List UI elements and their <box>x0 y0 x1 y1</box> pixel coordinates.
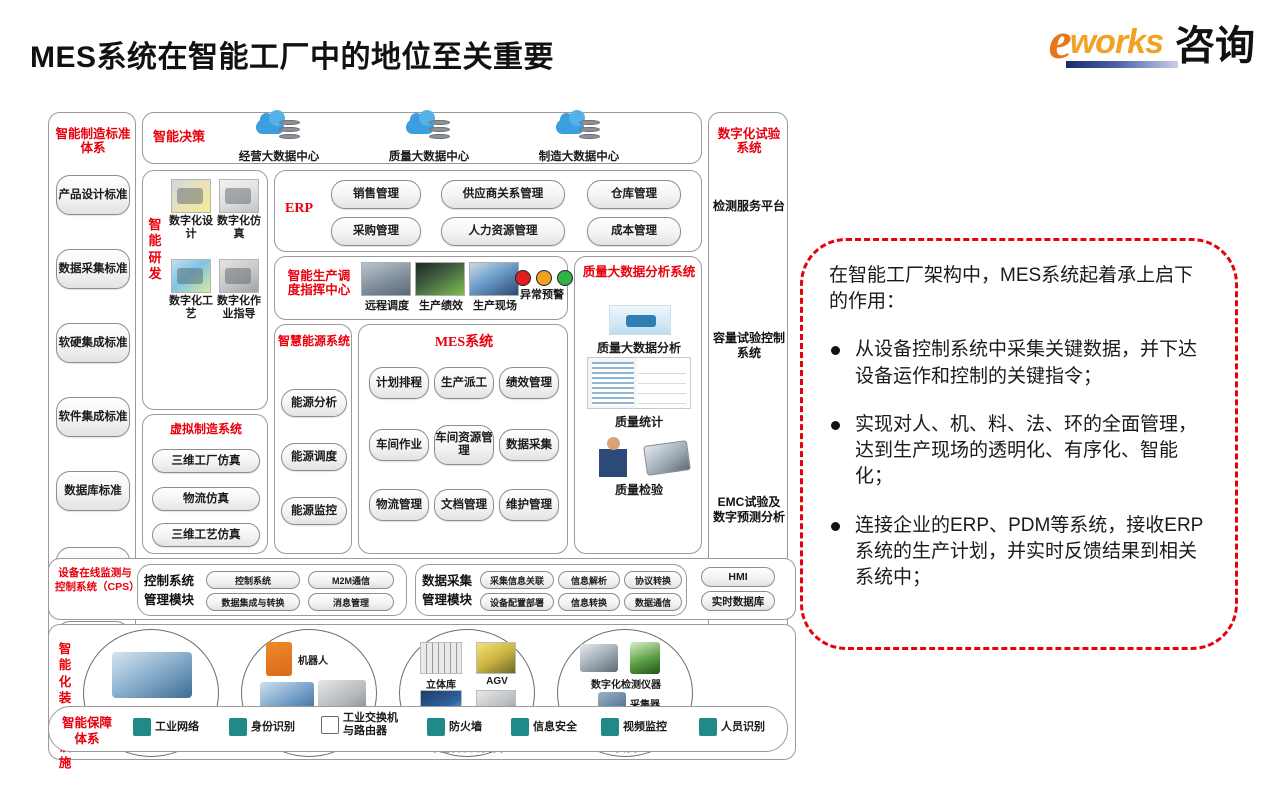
security-item-firewall[interactable]: 防火墙 <box>427 718 482 736</box>
security-item-personnel-identification-label: 人员识别 <box>721 721 765 734</box>
logo-word-text: works <box>1070 23 1163 61</box>
standards-column-title: 智能制造标准体系 <box>55 127 131 156</box>
logo-suffix: 咨询 <box>1175 13 1255 71</box>
security-item-firewall-label: 防火墙 <box>449 721 482 734</box>
standard-item-software-integration[interactable]: 软件集成标准 <box>56 397 130 437</box>
cps-chip-m2m[interactable]: M2M通信 <box>308 571 394 589</box>
cps-chip-message-mgmt[interactable]: 消息管理 <box>308 593 394 611</box>
mes-box: MES系统 计划排程 生产派工 绩效管理 车间作业 车间资源管理 数据采集 物流… <box>358 324 568 554</box>
smart-energy-box: 智慧能源系统 能源分析 能源调度 能源监控 <box>274 324 352 554</box>
cloud-database-icon <box>256 117 302 147</box>
smart-decision-row: 智能决策 经营大数据中心 质量大数据中心 制造大数据中心 <box>142 112 702 164</box>
sched-item-performance-label: 生产绩效 <box>415 297 467 313</box>
quality-bigdata-box: 质量大数据分析系统 质量大数据分析 质量统计 质量检验 <box>574 256 702 554</box>
sched-item-shopfloor-label: 生产现场 <box>469 297 521 313</box>
digital-design-thumbnail <box>171 179 211 213</box>
erp-module-purchase[interactable]: 采购管理 <box>331 217 421 246</box>
energy-item-analysis[interactable]: 能源分析 <box>281 389 347 417</box>
architecture-diagram: 智能制造标准体系 产品设计标准 数据采集标准 软硬集成标准 软件集成标准 数据库… <box>48 112 788 752</box>
test-item-emc-prediction[interactable]: EMC试验及数字预测分析 <box>713 495 785 525</box>
smart-decision-label: 智能决策 <box>153 130 205 145</box>
rd-item-work-instruction[interactable]: 数字化作业指导 <box>217 259 261 320</box>
cps-item-hmi[interactable]: HMI <box>701 567 775 587</box>
erp-module-warehouse[interactable]: 仓库管理 <box>587 180 681 209</box>
security-item-switch-router-label: 工业交换机与路由器 <box>343 712 405 737</box>
inspector-figure-icon <box>595 435 631 477</box>
sched-item-performance[interactable]: 生产绩效 <box>415 262 467 313</box>
tablet-device-icon <box>643 440 691 476</box>
erp-box: ERP 销售管理 供应商关系管理 仓库管理 采购管理 人力资源管理 成本管理 <box>274 170 702 252</box>
equipment-sub-asrs: 立体库 <box>414 676 468 691</box>
cps-item-realtime-db[interactable]: 实时数据库 <box>701 591 775 611</box>
quality-caption-analysis: 质量大数据分析 <box>575 339 703 356</box>
mes-item-performance[interactable]: 绩效管理 <box>499 367 559 399</box>
remote-scheduling-thumbnail <box>361 262 411 296</box>
quality-caption-statistics: 质量统计 <box>575 413 703 430</box>
mes-item-logistics[interactable]: 物流管理 <box>369 489 429 521</box>
callout-bullet-2: 实现对人、机、料、法、环的全面管理，达到生产现场的透明化、有序化、智能化； <box>829 412 1211 491</box>
digital-test-column-title: 数字化试验系统 <box>713 127 785 156</box>
equipment-sub-robot: 机器人 <box>298 652 358 667</box>
sched-item-remote-label: 远程调度 <box>361 297 413 313</box>
page-title: MES系统在智能工厂中的地位至关重要 <box>30 32 554 76</box>
security-item-switch-router[interactable]: 工业交换机与路由器 <box>321 712 405 737</box>
erp-module-sales[interactable]: 销售管理 <box>331 180 421 209</box>
middle-stack: 智能决策 经营大数据中心 质量大数据中心 制造大数据中心 <box>142 112 702 704</box>
data-center-quality[interactable]: 质量大数据中心 <box>369 117 489 164</box>
security-system-bar: 智能保障体系 工业网络 身份识别 工业交换机与路由器 防火墙 信息安全 视频监控… <box>48 706 788 752</box>
cps-group-data-label: 数据采集管理模块 <box>422 572 480 610</box>
mes-item-shopfloor-ops[interactable]: 车间作业 <box>369 429 429 461</box>
asrs-warehouse-image <box>420 642 462 674</box>
measuring-device-image <box>630 642 660 674</box>
security-system-label: 智能保障体系 <box>59 715 115 748</box>
scheduling-command-center: 智能生产调度指挥中心 远程调度 生产绩效 生产现场 异常预警 <box>274 256 568 320</box>
switch-icon <box>321 716 339 734</box>
digital-process-thumbnail <box>171 259 211 293</box>
work-instruction-thumbnail <box>219 259 259 293</box>
security-item-industrial-network-label: 工业网络 <box>155 721 199 734</box>
energy-item-dispatch[interactable]: 能源调度 <box>281 443 347 471</box>
data-center-quality-label: 质量大数据中心 <box>369 148 489 164</box>
wifi-icon <box>133 718 151 736</box>
callout-bullet-3: 连接企业的ERP、PDM等系统，接收ERP系统的生产计划，并实时反馈结果到相关系… <box>829 513 1211 592</box>
traffic-light-icon <box>515 270 573 286</box>
quality-caption-inspection: 质量检验 <box>575 481 703 498</box>
sched-item-shopfloor[interactable]: 生产现场 <box>469 262 521 313</box>
camera-icon <box>601 718 619 736</box>
erp-module-cost[interactable]: 成本管理 <box>587 217 681 246</box>
virtual-manufacturing-title: 虚拟制造系统 <box>147 423 265 437</box>
mes-item-data-collection[interactable]: 数据采集 <box>499 429 559 461</box>
quality-statistics-thumbnail <box>587 357 691 409</box>
energy-item-monitoring[interactable]: 能源监控 <box>281 497 347 525</box>
rd-item-digital-design-label: 数字化设计 <box>169 215 213 240</box>
cps-chip-data-comm[interactable]: 数据通信 <box>624 593 682 611</box>
person-id-icon <box>699 718 717 736</box>
logo-e-mark: e <box>1049 19 1072 66</box>
mes-title: MES系统 <box>359 335 569 351</box>
test-item-inspection-service-platform[interactable]: 检测服务平台 <box>713 199 785 214</box>
energy-equipment-image <box>112 652 192 698</box>
callout-lead: 在智能工厂架构中，MES系统起着承上启下的作用： <box>829 263 1211 315</box>
callout-bullet-1: 从设备控制系统中采集关键数据，并下达设备运作和控制的关键指令； <box>829 337 1211 389</box>
quality-bigdata-title: 质量大数据分析系统 <box>579 265 699 279</box>
sched-item-remote[interactable]: 远程调度 <box>361 262 413 313</box>
robot-image <box>266 642 292 676</box>
smart-energy-title: 智慧能源系统 <box>278 335 350 349</box>
security-item-identity-label: 身份识别 <box>251 721 295 734</box>
smart-rd-box: 智能研发 数字化设计 数字化仿真 数字化工艺 数字化作业指导 <box>142 170 268 410</box>
standard-item-hw-sw-integration[interactable]: 软硬集成标准 <box>56 323 130 363</box>
quality-bigdata-thumbnail <box>609 305 671 335</box>
rd-item-digital-process[interactable]: 数字化工艺 <box>169 259 213 320</box>
mes-role-callout: 在智能工厂架构中，MES系统起着承上启下的作用： 从设备控制系统中采集关键数据，… <box>800 238 1238 650</box>
virtual-manufacturing-box: 虚拟制造系统 三维工厂仿真 物流仿真 三维工艺仿真 <box>142 414 268 554</box>
data-center-manufacturing[interactable]: 制造大数据中心 <box>519 117 639 164</box>
cps-chip-device-config[interactable]: 设备配置部署 <box>480 593 554 611</box>
mes-item-document[interactable]: 文档管理 <box>434 489 494 521</box>
mes-item-maintenance[interactable]: 维护管理 <box>499 489 559 521</box>
security-item-video-surveillance-label: 视频监控 <box>623 721 667 734</box>
cps-chip-control-system[interactable]: 控制系统 <box>206 571 300 589</box>
data-center-business-label: 经营大数据中心 <box>219 148 339 164</box>
rd-item-digital-simulation[interactable]: 数字化仿真 <box>217 179 261 240</box>
test-item-capacity-test-control[interactable]: 容量试验控制系统 <box>713 331 785 361</box>
erp-module-hr[interactable]: 人力资源管理 <box>441 217 565 246</box>
cps-row: 设备在线监测与控制系统（CPS） 控制系统管理模块 控制系统 M2M通信 数据集… <box>48 558 796 620</box>
firewall-icon <box>427 718 445 736</box>
scheduling-label: 智能生产调度指挥中心 <box>282 269 356 298</box>
standard-item-database[interactable]: 数据库标准 <box>56 471 130 511</box>
callout-bullet-list: 从设备控制系统中采集关键数据，并下达设备运作和控制的关键指令； 实现对人、机、料… <box>829 337 1211 591</box>
digital-instrument-image <box>580 644 618 672</box>
digital-simulation-thumbnail <box>219 179 259 213</box>
erp-label: ERP <box>285 201 313 217</box>
rd-item-work-instruction-label: 数字化作业指导 <box>217 295 261 320</box>
cps-chip-info-parse[interactable]: 信息解析 <box>558 571 620 589</box>
virt-item-3d-process-sim[interactable]: 三维工艺仿真 <box>152 523 260 547</box>
smart-rd-label: 智能研发 <box>147 217 163 282</box>
logo-wordmark: works <box>1070 23 1163 62</box>
production-site-thumbnail <box>469 262 519 296</box>
security-item-video-surveillance[interactable]: 视频监控 <box>601 718 667 736</box>
mes-item-resource-mgmt[interactable]: 车间资源管理 <box>434 425 494 465</box>
data-center-manufacturing-label: 制造大数据中心 <box>519 148 639 164</box>
security-item-information-security-label: 信息安全 <box>533 721 577 734</box>
cps-chip-info-convert[interactable]: 信息转换 <box>558 593 620 611</box>
sched-item-alarm[interactable]: 异常预警 <box>515 262 569 302</box>
security-item-personnel-identification[interactable]: 人员识别 <box>699 718 765 736</box>
security-item-identity[interactable]: 身份识别 <box>229 718 295 736</box>
standard-item-data-collection[interactable]: 数据采集标准 <box>56 249 130 289</box>
cps-group-control-label: 控制系统管理模块 <box>144 572 202 610</box>
shield-gear-icon <box>511 718 529 736</box>
equipment-sub-digital-instrument: 数字化检测仪器 <box>564 676 688 691</box>
logo-gradient-bar <box>1066 61 1178 68</box>
equipment-sub-agv: AGV <box>474 676 520 687</box>
cloud-database-icon <box>556 117 602 147</box>
cps-group-data-collection: 数据采集管理模块 采集信息关联 信息解析 协议转换 设备配置部署 信息转换 数据… <box>415 564 687 616</box>
data-center-business[interactable]: 经营大数据中心 <box>219 117 339 164</box>
sched-item-alarm-label: 异常预警 <box>515 286 569 302</box>
security-item-information-security[interactable]: 信息安全 <box>511 718 577 736</box>
standard-item-product-design[interactable]: 产品设计标准 <box>56 175 130 215</box>
erp-module-supplier[interactable]: 供应商关系管理 <box>441 180 565 209</box>
agv-image <box>476 642 516 674</box>
cps-chip-protocol-convert[interactable]: 协议转换 <box>624 571 682 589</box>
virt-item-logistics-sim[interactable]: 物流仿真 <box>152 487 260 511</box>
cps-chip-data-integration[interactable]: 数据集成与转换 <box>206 593 300 611</box>
rd-item-digital-simulation-label: 数字化仿真 <box>217 215 261 240</box>
cps-group-control: 控制系统管理模块 控制系统 M2M通信 数据集成与转换 消息管理 <box>137 564 407 616</box>
mes-item-planning[interactable]: 计划排程 <box>369 367 429 399</box>
lock-icon <box>229 718 247 736</box>
security-item-industrial-network[interactable]: 工业网络 <box>133 718 199 736</box>
cps-chip-collect-info-link[interactable]: 采集信息关联 <box>480 571 554 589</box>
mes-item-dispatching[interactable]: 生产派工 <box>434 367 494 399</box>
rd-item-digital-design[interactable]: 数字化设计 <box>169 179 213 240</box>
production-performance-thumbnail <box>415 262 465 296</box>
cps-label: 设备在线监测与控制系统（CPS） <box>55 566 135 594</box>
virt-item-3d-factory-sim[interactable]: 三维工厂仿真 <box>152 449 260 473</box>
rd-item-digital-process-label: 数字化工艺 <box>169 295 213 320</box>
eworks-logo: e works 咨询 <box>1049 14 1255 70</box>
cloud-database-icon <box>406 117 452 147</box>
